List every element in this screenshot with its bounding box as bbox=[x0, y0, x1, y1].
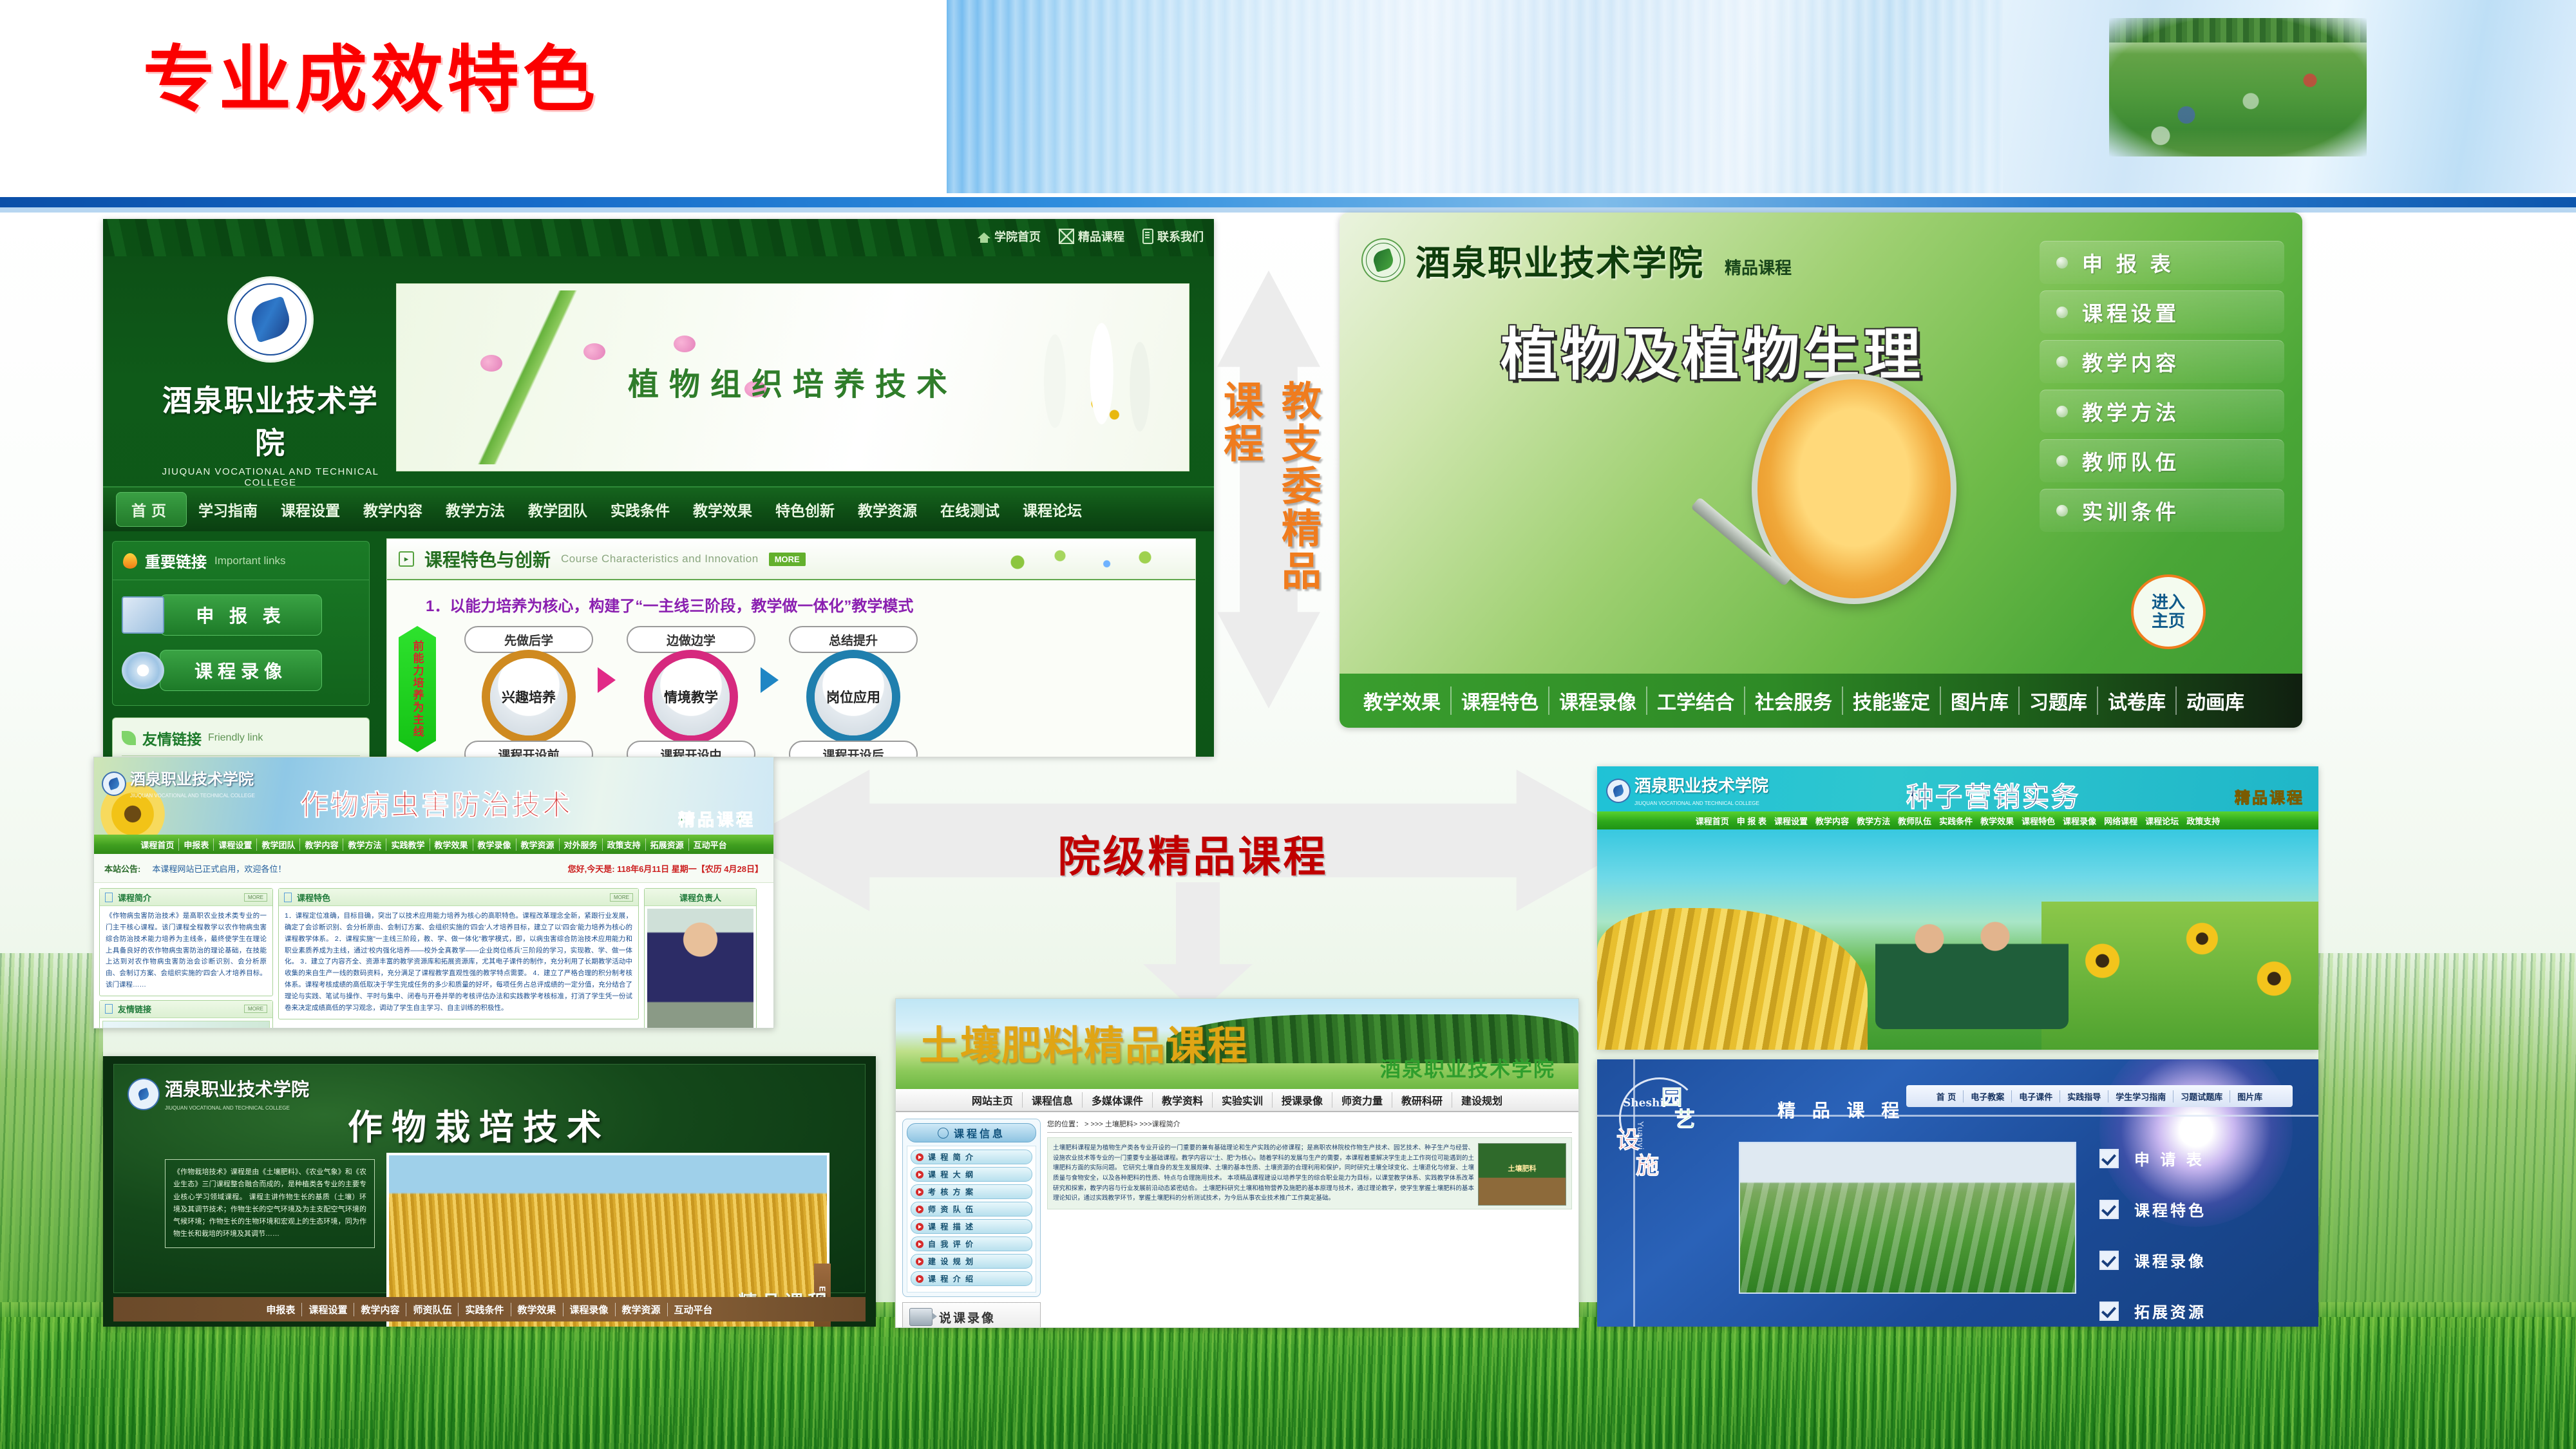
sidebar-item-label: 课 程 简 介 bbox=[928, 1151, 974, 1162]
site7-item-extended-resources[interactable]: 拓展资源 bbox=[2099, 1300, 2267, 1322]
site5-banner: 土壤肥料精品课程 酒泉职业技术学院 bbox=[896, 999, 1578, 1089]
article-photo: 土壤肥料 bbox=[1478, 1143, 1566, 1206]
stage-ring: 情境教学 bbox=[652, 658, 730, 735]
seal-swoosh bbox=[1371, 248, 1396, 272]
site1-nav-home[interactable]: 首页 bbox=[116, 492, 187, 527]
site6-nav-course-video[interactable]: 课程录像 bbox=[2059, 815, 2100, 827]
sidebar-item-assessment-plan[interactable]: 考 核 方 案 bbox=[911, 1184, 1032, 1199]
site5-body: 课程信息 课 程 简 介 课 程 大 纲 考 核 方 案 师 资 队 伍 课 程… bbox=[896, 1112, 1578, 1328]
top-link-label: 精品课程 bbox=[1078, 228, 1124, 245]
grass-right bbox=[2318, 953, 2576, 1320]
seal-swoosh bbox=[247, 296, 294, 343]
phone-icon bbox=[1142, 229, 1153, 244]
college-seal-icon bbox=[229, 278, 312, 361]
site6-banner-title: 种子营销实务 bbox=[1906, 775, 2080, 811]
site6-nav-policy-support[interactable]: 政策支持 bbox=[2183, 815, 2224, 827]
apply-form-button-wrap[interactable]: 申 报 表 bbox=[113, 594, 369, 636]
more-button[interactable]: MORE bbox=[769, 553, 806, 566]
menu-label: 实训条件 bbox=[2082, 496, 2180, 526]
card-title: 课程负责人 bbox=[679, 891, 721, 904]
site7-item-label: 课程录像 bbox=[2134, 1249, 2206, 1271]
card-text: 《作物病虫害防治技术》是高职农业技术类专业的一门主干核心课程。该门课程全程教学以… bbox=[100, 906, 272, 996]
site1-nav-practice-conditions[interactable]: 实践条件 bbox=[599, 498, 681, 520]
greenhouse-photo bbox=[1739, 1142, 2076, 1294]
sidebar-item-faculty[interactable]: 师 资 队 伍 bbox=[911, 1202, 1032, 1217]
stage-ring: 岗位应用 bbox=[815, 658, 892, 735]
site6-hero-image bbox=[1597, 829, 2318, 1050]
site3-banner: 酒泉职业技术学院 JIUQUAN VOCATIONAL AND TECHNICA… bbox=[94, 757, 773, 835]
page-title: 专业成效特色 bbox=[143, 44, 599, 116]
play-icon bbox=[916, 1206, 923, 1213]
magnifier-illustration bbox=[1752, 374, 1996, 625]
bullet-dot-icon bbox=[2056, 307, 2068, 318]
stage-bottom-pill: 课程开设中 bbox=[627, 741, 755, 757]
site4-nav-interactive-platform[interactable]: 互动平台 bbox=[668, 1303, 719, 1316]
screenshot-plant-physiology-site[interactable]: 酒泉职业技术学院 精品课程 植物及植物生理 申 报 表 课程设置 教学内容 教学… bbox=[1340, 213, 2302, 728]
site3-nav-interactive-platform[interactable]: 互动平台 bbox=[689, 838, 732, 851]
screenshot-seed-marketing-site[interactable]: 酒泉职业技术学院 JIUQUAN VOCATIONAL AND TECHNICA… bbox=[1597, 766, 2318, 1050]
screenshot-crop-cultivation-site[interactable]: 酒泉职业技术学院 JIUQUAN VOCATIONAL AND TECHNICA… bbox=[103, 1056, 876, 1327]
site3-nav-extended-resources[interactable]: 拓展资源 bbox=[646, 838, 689, 851]
arrow-pink-icon bbox=[598, 667, 623, 693]
site6-nav-teaching-effect[interactable]: 教学效果 bbox=[1976, 815, 2018, 827]
site5-nav-research[interactable]: 教研科研 bbox=[1392, 1092, 1452, 1108]
site4-title: 作物栽培技术 bbox=[348, 1099, 611, 1150]
grass-footer bbox=[0, 1317, 2576, 1449]
top-link-quality-course[interactable]: 精品课程 bbox=[1059, 228, 1124, 245]
site7-nav-electronic-courseware[interactable]: 电子课件 bbox=[2012, 1090, 2060, 1103]
site6-banner: 酒泉职业技术学院 JIUQUAN VOCATIONAL AND TECHNICA… bbox=[1597, 766, 2318, 811]
petal-art bbox=[583, 343, 605, 360]
site1-nav-features-innovation[interactable]: 特色创新 bbox=[764, 498, 846, 520]
more-button[interactable]: MORE bbox=[244, 893, 267, 902]
site1-nav-teaching-effect[interactable]: 教学效果 bbox=[681, 498, 764, 520]
site6-logo: 酒泉职业技术学院 JIUQUAN VOCATIONAL AND TECHNICA… bbox=[1607, 773, 1768, 808]
site7-item-label: 拓展资源 bbox=[2134, 1300, 2206, 1322]
logo-char-shi: 施 bbox=[1636, 1147, 1659, 1180]
site3-nav-policy-support[interactable]: 政策支持 bbox=[603, 838, 646, 851]
card-header: 课程负责人 bbox=[645, 889, 756, 906]
site6-nav-online-course[interactable]: 网络课程 bbox=[2100, 815, 2141, 827]
site7-item-application-form[interactable]: 申 请 表 bbox=[2099, 1147, 2267, 1170]
site1-nav-teaching-team[interactable]: 教学团队 bbox=[516, 498, 599, 520]
site5-nav-construction-plan[interactable]: 建设规划 bbox=[1452, 1092, 1511, 1108]
apply-form-button[interactable]: 申 报 表 bbox=[160, 594, 322, 636]
site1-nav-teaching-method[interactable]: 教学方法 bbox=[434, 498, 516, 520]
top-link-contact-us[interactable]: 联系我们 bbox=[1142, 228, 1204, 245]
important-links-header: 重要链接 Important links bbox=[113, 542, 369, 580]
bullet-dot-icon bbox=[2056, 257, 2068, 269]
site4-intro-text: 《作物栽培技术》课程是由《土壤肥料》、《农业气象》和《农业生态》三门课程整合融合… bbox=[165, 1159, 375, 1248]
site2-bottom-exercise-library[interactable]: 习题库 bbox=[2020, 687, 2098, 715]
site2-menu-teacher-team[interactable]: 教师队伍 bbox=[2040, 439, 2284, 482]
site7-link-list[interactable]: 申 请 表 课程特色 课程录像 拓展资源 bbox=[2099, 1147, 2267, 1327]
site1-banner: 植物组织培养技术 bbox=[396, 283, 1189, 471]
important-links-title-cn: 重要链接 bbox=[145, 549, 207, 572]
screenshot-pest-control-site[interactable]: 酒泉职业技术学院 JIUQUAN VOCATIONAL AND TECHNICA… bbox=[93, 757, 774, 1028]
logo-pinyin-sheshi: Sheshi bbox=[1623, 1097, 1664, 1110]
site7-nav-home[interactable]: 首 页 bbox=[1929, 1090, 1964, 1103]
sidebar-item-label: 课 程 大 纲 bbox=[928, 1169, 974, 1180]
card-header: 课程特色 MORE bbox=[279, 889, 638, 906]
site6-nav-practice-conditions[interactable]: 实践条件 bbox=[1935, 815, 1976, 827]
article-text: 土壤肥料课程是为植物生产类各专业开设的一门重要的兼有基础理论和生产实践的必修课程… bbox=[1053, 1144, 1474, 1202]
site2-bottom-skill-assessment[interactable]: 技能鉴定 bbox=[1843, 687, 1941, 715]
site7-nav-student-study-guide[interactable]: 学生学习指南 bbox=[2108, 1090, 2173, 1103]
lecture-video-label: 说课录像 bbox=[939, 1309, 996, 1326]
teacher-photo bbox=[647, 909, 753, 1028]
site2-bottom-exam-library[interactable]: 试卷库 bbox=[2098, 687, 2177, 715]
important-links-panel: 重要链接 Important links 申 报 表 课程录像 bbox=[112, 541, 370, 706]
sidebar-item-label: 自 我 评 价 bbox=[928, 1238, 974, 1249]
divider-blue-light bbox=[0, 207, 2576, 213]
site5-nav-faculty-strength[interactable]: 师资力量 bbox=[1332, 1092, 1392, 1108]
friendly-links-card: 友情链接 MORE 中国植保信息网 bbox=[99, 1000, 273, 1028]
friendly-links-title-cn: 友情链接 bbox=[142, 727, 202, 749]
site2-bottom-teaching-effect[interactable]: 教学效果 bbox=[1354, 687, 1452, 715]
sidebar-item-construction-plan[interactable]: 建 设 规 划 bbox=[911, 1254, 1032, 1269]
site5-banner-title: 土壤肥料精品课程 bbox=[919, 1013, 1249, 1071]
corn-art bbox=[1597, 908, 1868, 1050]
card-title: 友情链接 bbox=[118, 1003, 151, 1015]
checkbox-checked-icon bbox=[2099, 1149, 2119, 1168]
disc-icon bbox=[122, 652, 164, 689]
site2-bottom-social-service[interactable]: 社会服务 bbox=[1745, 687, 1843, 715]
flower-decoration bbox=[975, 543, 1188, 575]
site2-menu-teaching-content[interactable]: 教学内容 bbox=[2040, 340, 2284, 383]
site2-menu-apply-form[interactable]: 申 报 表 bbox=[2040, 241, 2284, 284]
site3-notice-bar: 本站公告: 本课程网站已正式启用，欢迎各位！ 您好,今天是: 118年6月11日… bbox=[94, 854, 773, 883]
site7-nav-image-library[interactable]: 图片库 bbox=[2230, 1090, 2269, 1103]
site2-header: 酒泉职业技术学院 精品课程 bbox=[1363, 234, 1792, 285]
stage-top-pill: 先做后学 bbox=[464, 626, 593, 653]
course-info-list[interactable]: 课 程 简 介 课 程 大 纲 考 核 方 案 师 资 队 伍 课 程 描 述 … bbox=[907, 1146, 1036, 1293]
petal-art bbox=[674, 336, 696, 352]
horizontal-rule bbox=[1597, 1115, 2318, 1117]
sidebar-item-self-evaluation[interactable]: 自 我 评 价 bbox=[911, 1236, 1032, 1251]
more-button[interactable]: MORE bbox=[244, 1005, 267, 1013]
grass-left bbox=[0, 953, 103, 1320]
college-seal-icon bbox=[129, 1079, 158, 1109]
stage-ring: 兴趣培养 bbox=[490, 658, 567, 735]
site3-banner-tag: 精品课程 bbox=[678, 807, 755, 831]
sidebar-item-course-presentation[interactable]: 课 程 介 绍 bbox=[911, 1271, 1032, 1286]
logo-char-yi: 艺 bbox=[1674, 1103, 1695, 1133]
course-video-button-wrap[interactable]: 课程录像 bbox=[113, 650, 369, 691]
college-seal-icon bbox=[103, 773, 125, 795]
main-line-chevron-label: 前能力培养为主线 bbox=[410, 640, 426, 738]
stage-bottom-pill: 课程开设前 bbox=[464, 741, 593, 757]
checkbox-checked-icon bbox=[2099, 1200, 2119, 1219]
site4-nav-course-setup[interactable]: 课程设置 bbox=[302, 1303, 354, 1316]
sidebar-item-label: 建 设 规 划 bbox=[928, 1256, 974, 1267]
site6-nav-course-setup[interactable]: 课程设置 bbox=[1770, 815, 1812, 827]
bullet-dot-icon bbox=[2056, 455, 2068, 467]
stage-top-pill: 边做边学 bbox=[627, 626, 755, 653]
divider-blue bbox=[0, 197, 2576, 207]
sunflower-field-art bbox=[2041, 902, 2318, 1050]
screenshot-facility-horticulture-site[interactable]: Sheshi Yuanyi 设 施 园 艺 精 品 课 程 首 页 电子教案 电… bbox=[1597, 1059, 2318, 1327]
site1-content-panel: ▸ 课程特色与创新 Course Characteristics and Inn… bbox=[386, 538, 1196, 757]
site5-nav-course-info[interactable]: 课程信息 bbox=[1023, 1092, 1083, 1108]
site7-nav-electronic-lesson-plan[interactable]: 电子教案 bbox=[1964, 1090, 2012, 1103]
seal-swoosh bbox=[108, 777, 120, 790]
site3-nav-external-service[interactable]: 对外服务 bbox=[560, 838, 603, 851]
checkbox-checked-icon bbox=[2099, 1251, 2119, 1270]
play-icon bbox=[916, 1153, 923, 1161]
site4-nav-apply-form[interactable]: 申报表 bbox=[260, 1303, 302, 1316]
site4-nav-teaching-resources[interactable]: 教学资源 bbox=[616, 1303, 668, 1316]
site3-left-column: 课程简介 MORE 《作物病虫害防治技术》是高职农业技术类专业的一门主干核心课程… bbox=[99, 888, 273, 1028]
card-header: 友情链接 MORE bbox=[100, 1001, 272, 1018]
sidebar-item-course-description[interactable]: 课 程 描 述 bbox=[911, 1219, 1032, 1234]
site3-nav-practical-teaching[interactable]: 实践教学 bbox=[386, 838, 430, 851]
site7-nav-practice-guidance[interactable]: 实践指导 bbox=[2060, 1090, 2108, 1103]
down-arrow bbox=[1143, 882, 1253, 1014]
checkbox-checked-icon bbox=[2099, 1302, 2119, 1321]
menu-label: 教学方法 bbox=[2082, 397, 2180, 426]
menu-label: 教学内容 bbox=[2082, 347, 2180, 377]
flame-icon bbox=[123, 553, 137, 569]
course-leader-card: 课程负责人 bbox=[644, 888, 757, 1028]
site1-navbar[interactable]: 首页 学习指南 课程设置 教学内容 教学方法 教学团队 实践条件 教学效果 特色… bbox=[103, 486, 1214, 531]
course-video-button[interactable]: 课程录像 bbox=[160, 650, 322, 691]
main-line-chevron: 前能力培养为主线 bbox=[399, 626, 436, 752]
site4-nav-course-video[interactable]: 课程录像 bbox=[563, 1303, 616, 1316]
site3-nav-teaching-video[interactable]: 教学录像 bbox=[473, 838, 516, 851]
site3-right-column: 课程负责人 bbox=[644, 888, 757, 1028]
site2-menu-course-setup[interactable]: 课程设置 bbox=[2040, 290, 2284, 334]
site2-bottom-work-study[interactable]: 工学结合 bbox=[1647, 687, 1745, 715]
site3-nav-teaching-team[interactable]: 教学团队 bbox=[257, 838, 300, 851]
more-button[interactable]: MORE bbox=[610, 893, 633, 902]
course-intro-card: 课程简介 MORE 《作物病虫害防治技术》是高职农业技术类专业的一门主干核心课程… bbox=[99, 888, 273, 996]
bullet-dot-icon bbox=[2056, 356, 2068, 368]
course-info-box: 课程信息 课 程 简 介 课 程 大 纲 考 核 方 案 师 资 队 伍 课 程… bbox=[902, 1119, 1041, 1297]
site2-bottom-animation-library[interactable]: 动画库 bbox=[2177, 687, 2254, 715]
site5-sidebar: 课程信息 课 程 简 介 课 程 大 纲 考 核 方 案 师 资 队 伍 课 程… bbox=[902, 1119, 1041, 1328]
friendly-links-title-en: Friendly link bbox=[208, 732, 263, 744]
site2-bottom-nav[interactable]: 教学效果 课程特色 课程录像 工学结合 社会服务 技能鉴定 图片库 习题库 试卷… bbox=[1340, 674, 2302, 728]
site6-nav-teacher-team[interactable]: 教师队伍 bbox=[1894, 815, 1935, 827]
friendly-links-panel: 友情链接 Friendly link 中华人民共和国教育部 Ministry o… bbox=[112, 717, 370, 757]
document-icon bbox=[122, 596, 164, 634]
site7-item-label: 课程特色 bbox=[2134, 1198, 2206, 1220]
college-seal-icon bbox=[1363, 240, 1404, 281]
site1-nav-teaching-content[interactable]: 教学内容 bbox=[352, 498, 434, 520]
menu-label: 课程设置 bbox=[2082, 298, 2180, 327]
college-name-en: JIUQUAN VOCATIONAL AND TECHNICAL COLLEGE bbox=[1634, 800, 1759, 806]
screenshot-soil-fertilizer-site[interactable]: 土壤肥料精品课程 酒泉职业技术学院 网站主页 课程信息 多媒体课件 教学资料 实… bbox=[895, 998, 1579, 1328]
site6-navbar[interactable]: 课程首页 申 报 表 课程设置 教学内容 教学方法 教师队伍 实践条件 教学效果… bbox=[1597, 811, 2318, 829]
site1-nav-online-test[interactable]: 在线测试 bbox=[929, 498, 1011, 520]
menu-label: 申 报 表 bbox=[2082, 248, 2175, 278]
header-field-photo bbox=[2109, 18, 2367, 156]
enter-homepage-button[interactable]: 进入 主页 bbox=[2131, 574, 2206, 649]
leaf-icon bbox=[122, 731, 136, 745]
play-icon bbox=[916, 1275, 923, 1283]
friendly-links-header: 友情链接 Friendly link bbox=[122, 727, 360, 756]
site1-top-links[interactable]: 学院首页 精品课程 联系我们 bbox=[978, 228, 1204, 245]
seal-swoosh bbox=[1612, 784, 1625, 797]
site6-banner-tag: 精品课程 bbox=[2235, 785, 2304, 808]
site1-nav-items[interactable]: 首页 学习指南 课程设置 教学内容 教学方法 教学团队 实践条件 教学效果 特色… bbox=[103, 488, 1214, 531]
site5-navbar[interactable]: 网站主页 课程信息 多媒体课件 教学资料 实验实训 授课录像 师资力量 教研科研… bbox=[896, 1089, 1578, 1112]
site6-nav-forum[interactable]: 课程论坛 bbox=[2141, 815, 2183, 827]
site5-nav-teaching-materials[interactable]: 教学资料 bbox=[1153, 1092, 1213, 1108]
site4-nav-teaching-content[interactable]: 教学内容 bbox=[354, 1303, 406, 1316]
site5-nav-experiment-training[interactable]: 实验实训 bbox=[1213, 1092, 1273, 1108]
home-icon bbox=[978, 230, 990, 243]
important-links-title-en: Important links bbox=[214, 554, 286, 567]
sidebar-item-course-intro[interactable]: 课 程 简 介 bbox=[911, 1150, 1032, 1164]
card-text: 1．课程定位准确，目标目确，突出了以技术应用能力培养为核心的高职特色。课程改革理… bbox=[279, 906, 638, 1019]
play-icon bbox=[916, 1188, 923, 1196]
mail-icon bbox=[1059, 229, 1074, 244]
site3-nav-home[interactable]: 课程首页 bbox=[136, 838, 179, 851]
sidebar-item-label: 课 程 介 绍 bbox=[928, 1273, 974, 1284]
tree-line bbox=[2109, 18, 2367, 43]
notice-message: 本课程网站已正式启用，欢迎各位！ bbox=[152, 862, 286, 875]
chevron-down-icon bbox=[938, 1128, 949, 1139]
camera-icon bbox=[909, 1308, 933, 1326]
college-name-cn: 酒泉职业技术学院 bbox=[130, 770, 254, 788]
site6-nav-course-features[interactable]: 课程特色 bbox=[2018, 815, 2059, 827]
horizontal-arrow-group: 院级精品课程 bbox=[744, 770, 1642, 1018]
site1-nav-course-setup[interactable]: 课程设置 bbox=[269, 498, 352, 520]
card-title: 课程特色 bbox=[297, 891, 330, 904]
header-sky-band bbox=[947, 0, 2003, 193]
site1-nav-teaching-resources[interactable]: 教学资源 bbox=[846, 498, 929, 520]
sidebar-item-label: 考 核 方 案 bbox=[928, 1186, 974, 1197]
bullet-dot-icon bbox=[2056, 406, 2068, 417]
article-box: 土壤肥料 土壤肥料课程是为植物生产类各专业开设的一门重要的兼有基础理论和生产实践… bbox=[1047, 1137, 1572, 1209]
site7-navbar[interactable]: 首 页 电子教案 电子课件 实践指导 学生学习指南 习题试题库 图片库 bbox=[1906, 1085, 2293, 1107]
site3-nav-teaching-resources[interactable]: 教学资源 bbox=[516, 838, 560, 851]
college-name-cn: 酒泉职业技术学院 bbox=[1416, 234, 1704, 285]
sidebar-item-course-syllabus[interactable]: 课 程 大 纲 bbox=[911, 1167, 1032, 1182]
site1-banner-title: 植物组织培养技术 bbox=[397, 359, 1189, 404]
vertical-arrow-label: 教支委精品课程 bbox=[1211, 380, 1327, 599]
site1-nav-guide[interactable]: 学习指南 bbox=[187, 498, 269, 520]
site2-bottom-course-video[interactable]: 课程录像 bbox=[1549, 687, 1647, 715]
site2-menu-teaching-method[interactable]: 教学方法 bbox=[2040, 390, 2284, 433]
site6-nav-teaching-method[interactable]: 教学方法 bbox=[1853, 815, 1894, 827]
site2-bottom-image-library[interactable]: 图片库 bbox=[1941, 687, 2020, 715]
students-photo bbox=[1875, 913, 2069, 1029]
site7-item-course-video[interactable]: 课程录像 bbox=[2099, 1249, 2267, 1271]
site5-banner-subtitle: 酒泉职业技术学院 bbox=[1380, 1053, 1555, 1083]
teaching-model-diagram: 前能力培养为主线 先做后学 兴趣培养 课程开设前 边做边学 情境教学 课程开设中… bbox=[387, 626, 1195, 755]
site6-nav-apply-form[interactable]: 申 报 表 bbox=[1733, 815, 1770, 827]
site3-logo: 酒泉职业技术学院 JIUQUAN VOCATIONAL AND TECHNICA… bbox=[103, 766, 255, 800]
site3-center-column: 课程特色 MORE 1．课程定位准确，目标目确，突出了以技术应用能力培养为核心的… bbox=[278, 888, 639, 1028]
college-seal-icon bbox=[1607, 780, 1629, 802]
play-icon bbox=[916, 1240, 923, 1248]
site2-bottom-course-features[interactable]: 课程特色 bbox=[1452, 687, 1549, 715]
site4-nav-teaching-effect[interactable]: 教学效果 bbox=[511, 1303, 563, 1316]
page-icon bbox=[284, 893, 292, 902]
site5-nav-lecture-video[interactable]: 授课录像 bbox=[1273, 1092, 1332, 1108]
course-features-card: 课程特色 MORE 1．课程定位准确，目标目确，突出了以技术应用能力培养为核心的… bbox=[278, 888, 639, 1019]
site3-nav-apply-form[interactable]: 申报表 bbox=[179, 838, 214, 851]
site6-nav-teaching-content[interactable]: 教学内容 bbox=[1812, 815, 1853, 827]
site5-main-column: 您的位置： > >>> 土壤肥料> >>>课程简介 土壤肥料 土壤肥料课程是为植… bbox=[1047, 1119, 1572, 1328]
enter-line2: 主页 bbox=[2152, 612, 2185, 630]
site3-nav-teaching-method[interactable]: 教学方法 bbox=[343, 838, 386, 851]
menu-label: 教师队伍 bbox=[2082, 446, 2180, 476]
notice-label: 本站公告: bbox=[104, 862, 140, 875]
sidebar-item-label: 师 资 队 伍 bbox=[928, 1204, 974, 1215]
site7-nav-question-bank[interactable]: 习题试题库 bbox=[2173, 1090, 2230, 1103]
site7-item-label: 申 请 表 bbox=[2134, 1147, 2204, 1170]
page-icon bbox=[105, 893, 113, 902]
top-link-college-home[interactable]: 学院首页 bbox=[978, 228, 1041, 245]
site2-menu[interactable]: 申 报 表 课程设置 教学内容 教学方法 教师队伍 实训条件 bbox=[2040, 241, 2284, 538]
site3-nav-course-setup[interactable]: 课程设置 bbox=[214, 838, 257, 851]
chevron-right-icon: ▸ bbox=[399, 551, 414, 567]
top-link-label: 学院首页 bbox=[994, 228, 1041, 245]
site4-nav-faculty[interactable]: 师资队伍 bbox=[406, 1303, 459, 1316]
site7-tag: 精 品 课 程 bbox=[1777, 1097, 1904, 1122]
site3-body: 课程简介 MORE 《作物病虫害防治技术》是高职农业技术类专业的一门主干核心课程… bbox=[94, 883, 773, 1028]
site4-navbar[interactable]: 申报表 课程设置 教学内容 师资队伍 实践条件 教学效果 课程录像 教学资源 互… bbox=[113, 1297, 866, 1321]
enter-line1: 进入 bbox=[2152, 593, 2185, 612]
vertical-arrow-group: 教支委精品课程 bbox=[1217, 270, 1320, 708]
seal-swoosh bbox=[137, 1088, 150, 1101]
stage-top-pill: 总结提升 bbox=[789, 626, 918, 653]
slide-root: 专业成效特色 学院首页 精品课程 联系我们 酒泉职业技术学院 JIUQUAN V… bbox=[0, 0, 2576, 1449]
lecture-video-button[interactable]: 说课录像 bbox=[902, 1302, 1041, 1328]
course-info-title: 课程信息 bbox=[954, 1125, 1005, 1141]
site3-nav-teaching-content[interactable]: 教学内容 bbox=[300, 838, 343, 851]
site3-navbar[interactable]: 课程首页 申报表 课程设置 教学团队 教学内容 教学方法 实践教学 教学效果 教… bbox=[94, 835, 773, 854]
college-name-en: JIUQUAN VOCATIONAL AND TECHNICAL COLLEGE bbox=[148, 466, 393, 488]
site1-left-column: 重要链接 Important links 申 报 表 课程录像 友情链接 Fri… bbox=[112, 541, 370, 757]
site2-tag: 精品课程 bbox=[1725, 255, 1792, 279]
screenshot-plant-tissue-culture-site[interactable]: 学院首页 精品课程 联系我们 酒泉职业技术学院 JIUQUAN VOCATION… bbox=[103, 219, 1214, 757]
card-title: 课程简介 bbox=[118, 891, 151, 904]
content-lead-text: 1．以能力培养为核心，构建了“一主线三阶段，教学做一体化”教学模式 bbox=[426, 593, 1195, 616]
site4-nav-practice-conditions[interactable]: 实践条件 bbox=[459, 1303, 511, 1316]
content-title-en: Course Characteristics and Innovation bbox=[561, 553, 759, 565]
content-header: ▸ 课程特色与创新 Course Characteristics and Inn… bbox=[387, 539, 1195, 580]
site3-banner-title: 作物病虫害防治技术 bbox=[300, 782, 573, 823]
play-icon bbox=[916, 1258, 923, 1265]
top-link-label: 联系我们 bbox=[1157, 228, 1204, 245]
bullet-dot-icon bbox=[2056, 505, 2068, 516]
card-header: 课程简介 MORE bbox=[100, 889, 272, 906]
site5-nav-multimedia-courseware[interactable]: 多媒体课件 bbox=[1083, 1092, 1153, 1108]
stage-bottom-pill: 课程开设后 bbox=[789, 741, 918, 757]
site7-item-course-features[interactable]: 课程特色 bbox=[2099, 1198, 2267, 1220]
play-icon bbox=[916, 1223, 923, 1231]
site6-nav-home[interactable]: 课程首页 bbox=[1692, 815, 1733, 827]
content-title-cn: 课程特色与创新 bbox=[424, 546, 551, 572]
site3-nav-teaching-effect[interactable]: 教学效果 bbox=[430, 838, 473, 851]
breadcrumb: 您的位置： > >>> 土壤肥料> >>>课程简介 bbox=[1047, 1119, 1572, 1133]
site1-nav-forum[interactable]: 课程论坛 bbox=[1011, 498, 1094, 520]
college-name-cn: 酒泉职业技术学院 bbox=[165, 1079, 309, 1100]
course-info-header: 课程信息 bbox=[907, 1123, 1036, 1142]
friendly-link-banner[interactable]: 中国植保信息网 bbox=[102, 1021, 270, 1028]
site5-nav-home[interactable]: 网站主页 bbox=[963, 1092, 1023, 1108]
site2-menu-training-conditions[interactable]: 实训条件 bbox=[2040, 489, 2284, 532]
sidebar-item-label: 课 程 描 述 bbox=[928, 1221, 974, 1232]
college-name-cn: 酒泉职业技术学院 bbox=[148, 377, 393, 462]
college-name-en: JIUQUAN VOCATIONAL AND TECHNICAL COLLEGE bbox=[165, 1105, 290, 1111]
college-name-cn: 酒泉职业技术学院 bbox=[1634, 777, 1768, 796]
